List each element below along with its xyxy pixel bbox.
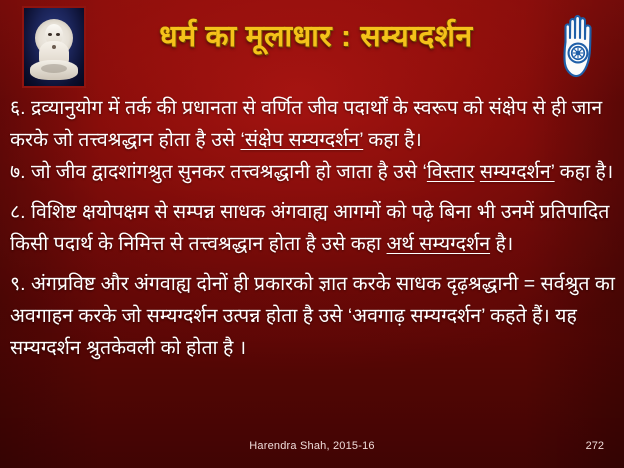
paragraph-6-line-1: ६. द्रव्यानुयोग में तर्क की प्रधानता से … [10,97,527,119]
slide-body: ६. द्रव्यानुयोग में तर्क की प्रधानता से … [10,92,618,364]
paragraph-8-line-1: ८. विशिष्ट क्षयोपक्षम से सम्पन्न साधक अं… [10,201,495,223]
paragraph-8-term-arth: अर्थ सम्यग्दर्शन [387,233,491,255]
paragraph-7-line-1-pre: ७. जो जीव द्वादशांगश्रुत सुनकर तत्त्वश्र… [10,161,427,183]
paragraph-6: ६. द्रव्यानुयोग में तर्क की प्रधानता से … [10,92,618,156]
idol-eye-left [48,33,52,36]
paragraph-7-line-2-post: कहा है। [555,161,614,183]
paragraph-8-line-3-post: है। [490,233,513,255]
slide-footer: Harendra Shah, 2015-16 272 [0,440,624,460]
paragraph-7: ७. जो जीव द्वादशांगश्रुत सुनकर तत्त्वश्र… [10,156,618,188]
paragraph-8: ८. विशिष्ट क्षयोपक्षम से सम्पन्न साधक अं… [10,196,618,260]
ahimsa-hand-icon [558,8,604,82]
idol-eye-right [56,33,60,36]
footer-page-number: 272 [586,440,604,452]
paragraph-7-term-vistar: विस्तार [427,161,475,183]
idol-srivatsa-mark [52,45,56,49]
paragraph-7-term-samyagdarshan: सम्यग्दर्शन’ [480,161,555,183]
paragraph-6-line-2-post: कहा है। [363,129,422,151]
slide-header: धर्म का मूलाधार : सम्यग्दर्शन [0,0,624,90]
idol-crossed-legs [30,60,78,80]
footer-credit: Harendra Shah, 2015-16 [0,440,624,452]
presentation-slide: धर्म का मूलाधार : सम्यग्दर्शन ६. द्रव [0,0,624,468]
paragraph-9: ९. अंगप्रविष्ट और अंगवाह्य दोनों ही प्रक… [10,268,618,364]
paragraph-6-term-sankshep: ‘संक्षेप सम्यग्दर्शन’ [241,129,364,151]
paragraph-9-line-1: ९. अंगप्रविष्ट और अंगवाह्य दोनों ही प्रक… [10,273,441,295]
slide-title: धर्म का मूलाधार : सम्यग्दर्शन [96,14,536,55]
tirthankara-idol-image [22,6,86,88]
